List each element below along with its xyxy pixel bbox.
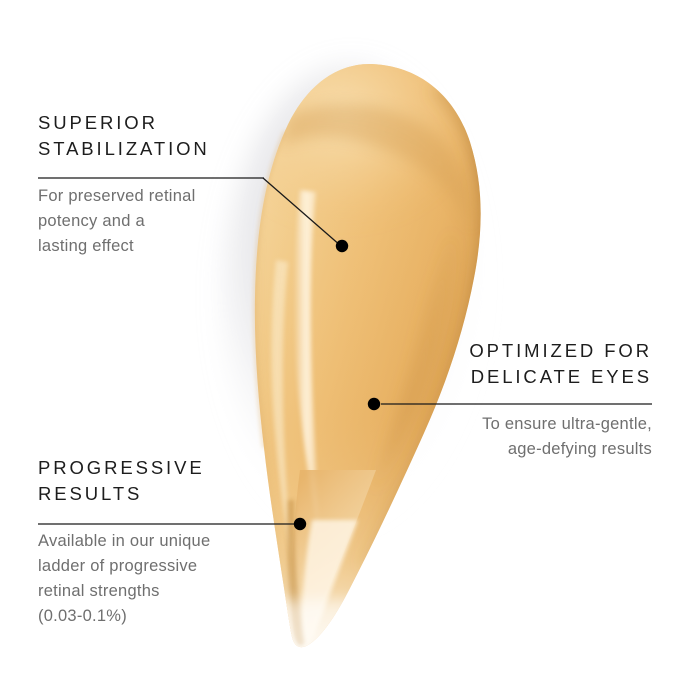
callout-body-superior-stabilization: For preserved retinal potency and a last…: [38, 184, 338, 259]
callout-heading-superior-stabilization: SUPERIOR STABILIZATION: [38, 110, 338, 162]
callout-superior-stabilization: SUPERIOR STABILIZATION For preserved ret…: [38, 110, 338, 259]
callout-heading-optimized-for-delicate-eyes: OPTIMIZED FOR DELICATE EYES: [352, 338, 652, 390]
infographic-canvas: SUPERIOR STABILIZATION For preserved ret…: [0, 0, 679, 679]
callout-heading-progressive-results: PROGRESSIVE RESULTS: [38, 455, 338, 507]
callout-progressive-results: PROGRESSIVE RESULTS Available in our uni…: [38, 455, 338, 629]
callout-body-progressive-results: Available in our unique ladder of progre…: [38, 529, 338, 629]
callout-optimized-for-delicate-eyes: OPTIMIZED FOR DELICATE EYES To ensure ul…: [352, 338, 652, 462]
callout-body-optimized-for-delicate-eyes: To ensure ultra-gentle, age-defying resu…: [352, 412, 652, 462]
